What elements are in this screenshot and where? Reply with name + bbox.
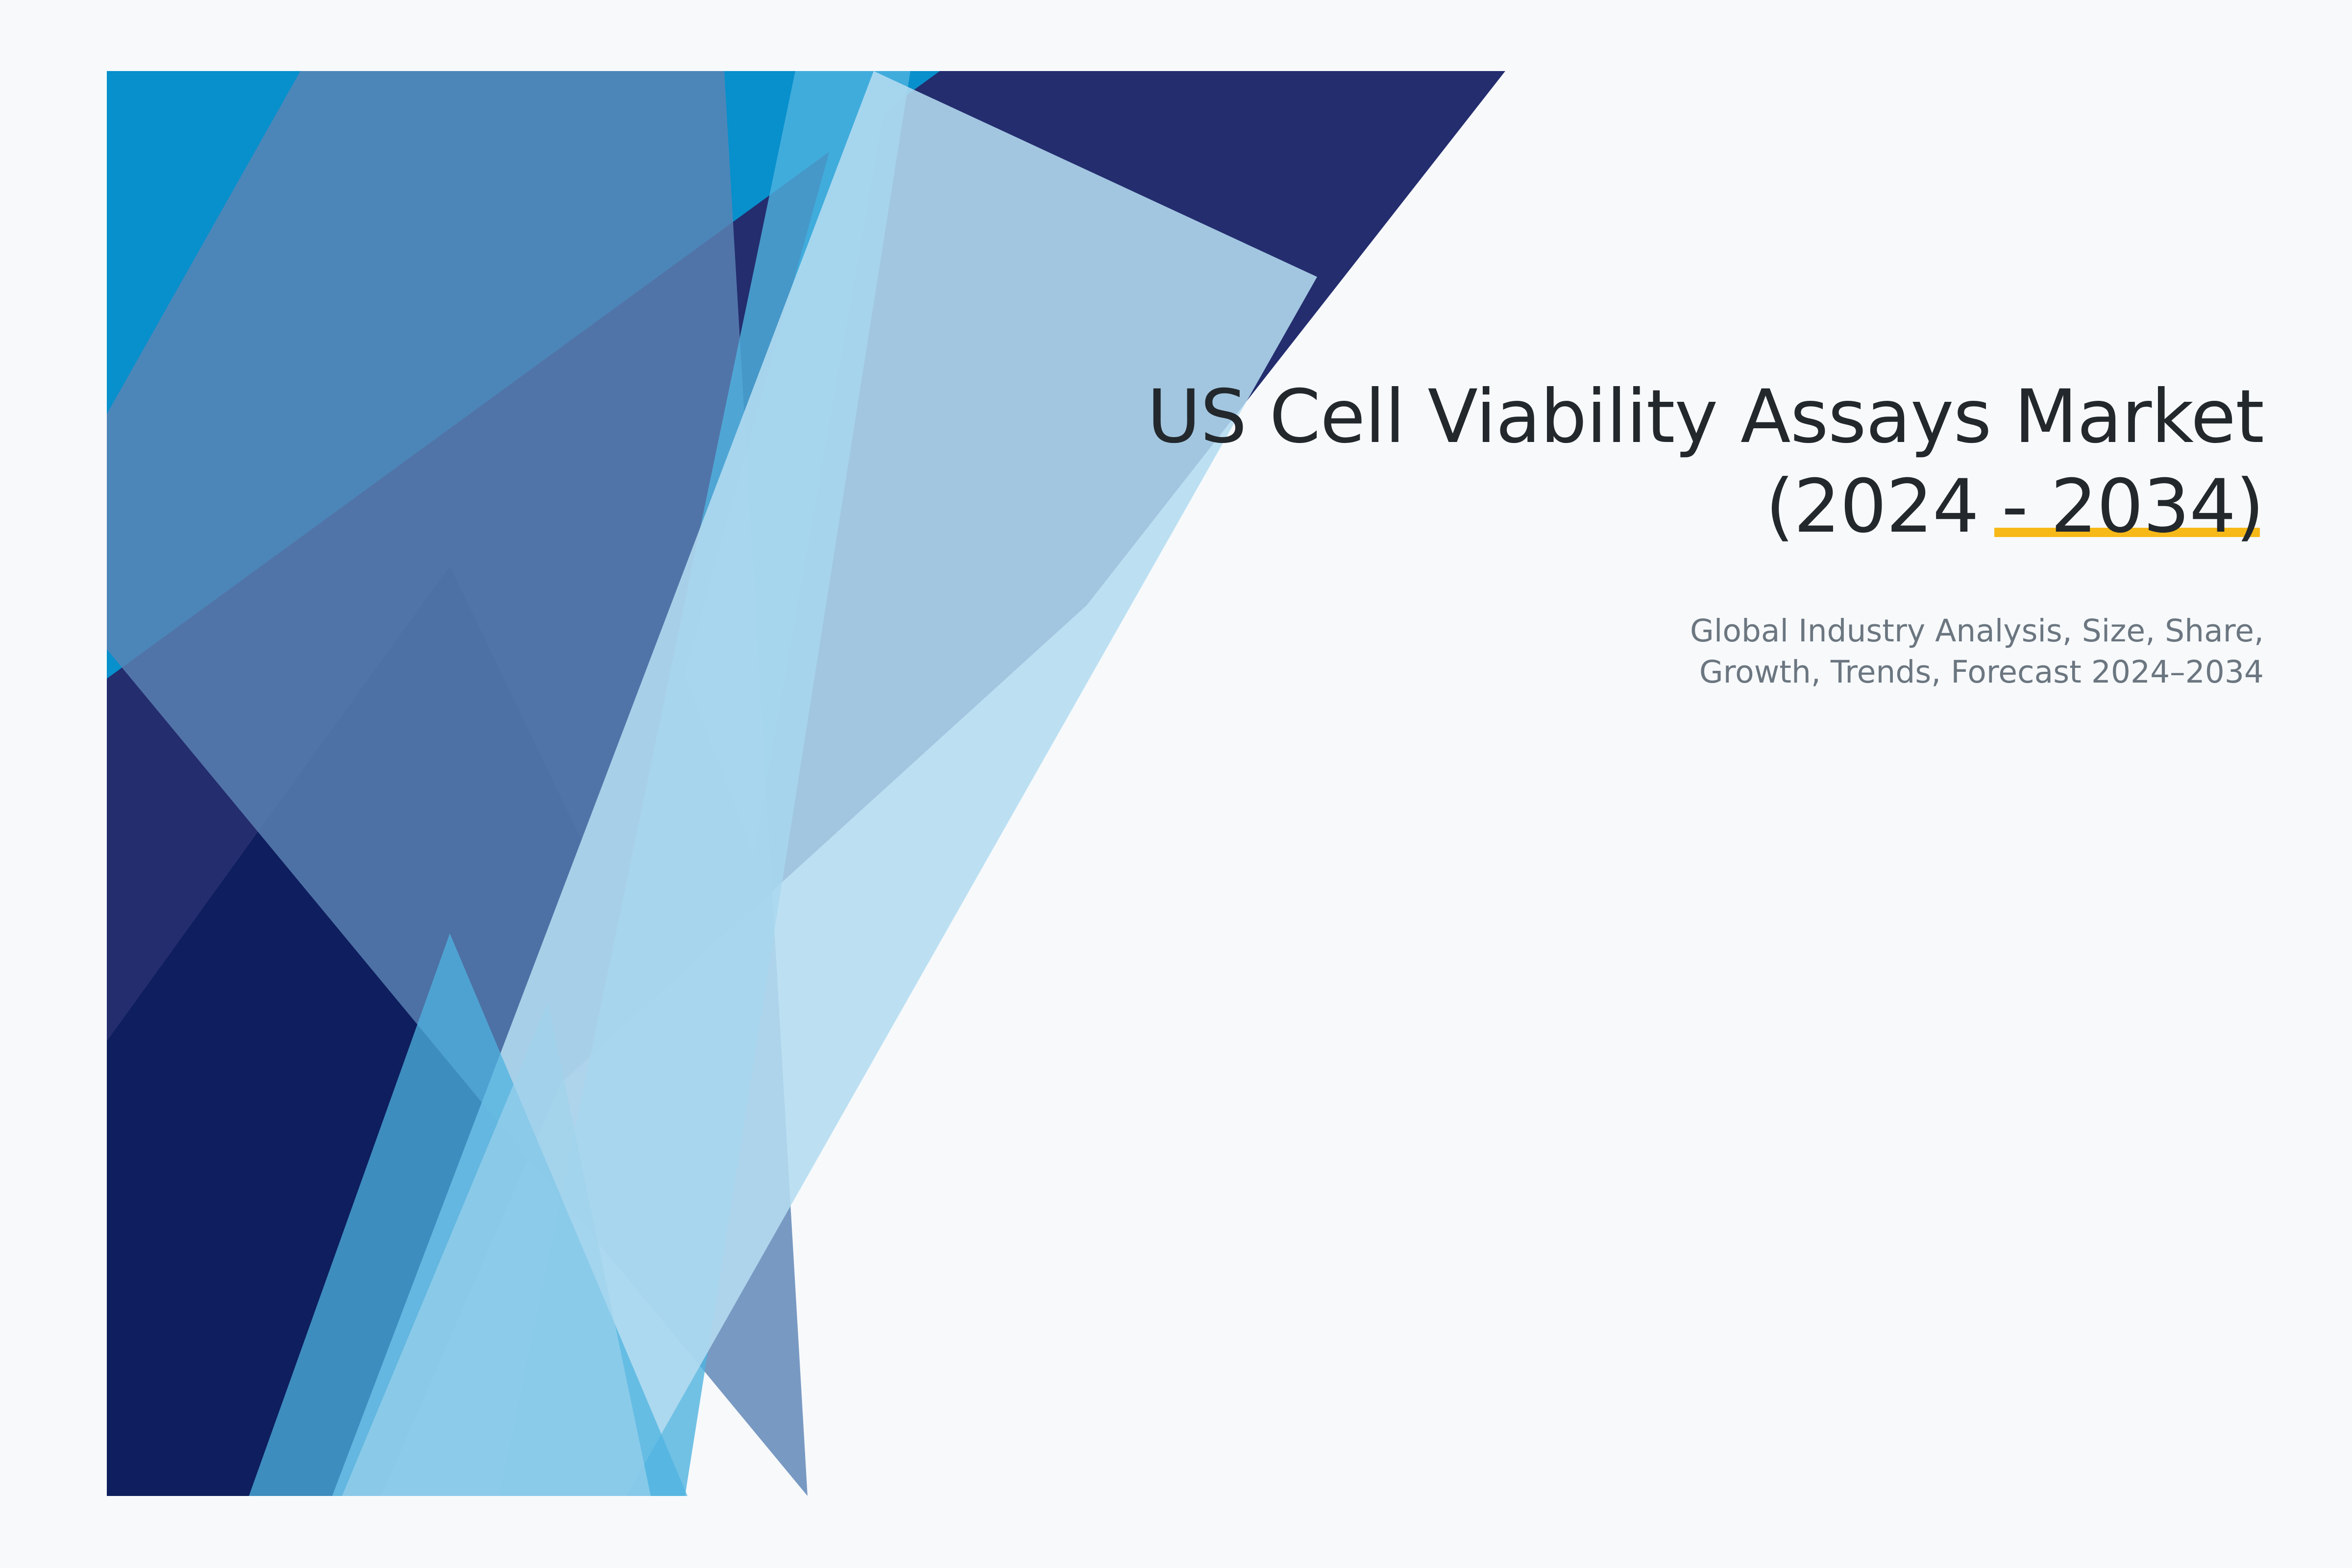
- artwork-svg: [107, 71, 1506, 1496]
- cover-page: US Cell Viability Assays Market(2024 - 2…: [0, 0, 2352, 1568]
- page-title-line-2: (2024 - 2034): [1765, 464, 2264, 549]
- abstract-geometric-artwork: [107, 71, 1506, 1496]
- title-block: US Cell Viability Assays Market(2024 - 2…: [1078, 372, 2264, 693]
- page-title-line-1: US Cell Viability Assays Market: [1147, 374, 2264, 460]
- page-title-line-2-wrapper: (2024 - 2034): [1765, 462, 2264, 552]
- page-title: US Cell Viability Assays Market(2024 - 2…: [1078, 372, 2264, 552]
- page-subtitle: Global Industry Analysis, Size, Share,Gr…: [1078, 552, 2264, 693]
- page-subtitle-line-1: Global Industry Analysis, Size, Share,: [1690, 613, 2264, 649]
- page-subtitle-line-2: Growth, Trends, Forecast 2024–2034: [1699, 654, 2264, 690]
